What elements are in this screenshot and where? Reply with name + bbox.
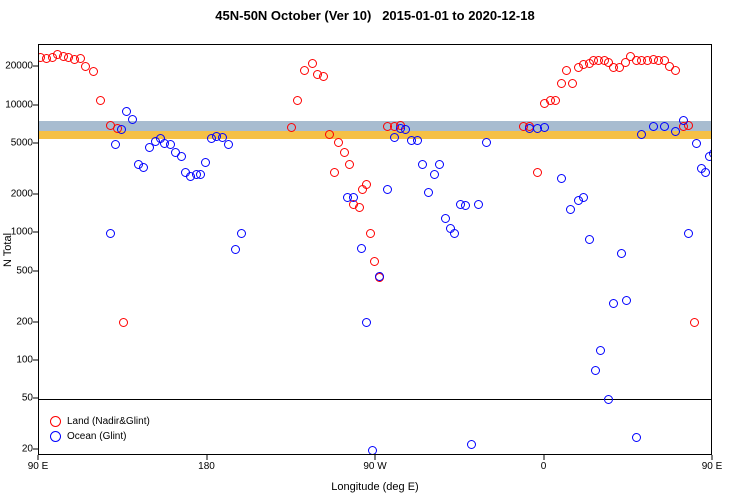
data-point: [106, 229, 115, 238]
y-tick-mark: [33, 66, 38, 67]
data-point: [649, 122, 658, 131]
y-tick-label: 5000: [11, 138, 33, 149]
plot-frame: [38, 44, 712, 455]
chart-root: 45N-50N October (Ver 10) 2015-01-01 to 2…: [0, 0, 750, 500]
data-point: [287, 123, 296, 132]
x-tick-mark: [712, 455, 713, 460]
data-point: [701, 168, 710, 177]
data-point: [366, 229, 375, 238]
y-tick-mark: [33, 359, 38, 360]
data-point: [362, 318, 371, 327]
data-point: [632, 433, 641, 442]
data-point: [551, 96, 560, 105]
data-point: [585, 235, 594, 244]
data-point: [308, 59, 317, 68]
data-point: [441, 214, 450, 223]
y-tick-mark: [33, 398, 38, 399]
data-point: [622, 296, 631, 305]
data-point: [482, 138, 491, 147]
y-tick-mark: [33, 270, 38, 271]
data-point: [566, 205, 575, 214]
chart-title: 45N-50N October (Ver 10) 2015-01-01 to 2…: [0, 8, 750, 23]
data-point: [139, 163, 148, 172]
data-point: [671, 127, 680, 136]
x-tick-label: 90 E: [702, 461, 723, 472]
data-point: [430, 170, 439, 179]
y-tick-label: 20000: [5, 61, 33, 72]
data-point: [119, 318, 128, 327]
data-point: [660, 122, 669, 131]
data-point: [177, 152, 186, 161]
data-point: [201, 158, 210, 167]
data-point: [368, 446, 377, 455]
data-point: [370, 257, 379, 266]
legend-item-ocean[interactable]: Ocean (Glint): [50, 429, 150, 444]
data-point: [340, 148, 349, 157]
y-tick-mark: [33, 232, 38, 233]
x-tick-mark: [375, 455, 376, 460]
data-point: [330, 168, 339, 177]
y-tick-mark: [33, 104, 38, 105]
x-tick-label: 90 W: [363, 461, 386, 472]
data-point: [467, 440, 476, 449]
legend-label-ocean: Ocean (Glint): [67, 430, 126, 444]
data-point: [196, 170, 205, 179]
x-tick-mark: [543, 455, 544, 460]
data-point: [474, 200, 483, 209]
data-point: [418, 160, 427, 169]
legend-marker-ocean-icon: [50, 431, 61, 442]
data-point: [579, 193, 588, 202]
data-point: [345, 160, 354, 169]
x-tick-label: 90 E: [28, 461, 49, 472]
data-point: [609, 299, 618, 308]
y-tick-label: 2000: [11, 189, 33, 200]
data-point: [300, 66, 309, 75]
data-point: [293, 96, 302, 105]
data-point: [679, 116, 688, 125]
data-point: [604, 395, 613, 404]
x-tick-mark: [38, 455, 39, 460]
y-tick-mark: [33, 449, 38, 450]
data-point: [684, 229, 693, 238]
data-point: [568, 79, 577, 88]
data-point: [690, 318, 699, 327]
x-tick-mark: [206, 455, 207, 460]
data-point: [231, 245, 240, 254]
data-point: [671, 66, 680, 75]
y-tick-label: 50: [22, 393, 33, 404]
data-point: [596, 346, 605, 355]
legend-marker-land-icon: [50, 416, 61, 427]
data-point: [435, 160, 444, 169]
legend-label-land: Land (Nadir&Glint): [67, 415, 150, 429]
data-point: [89, 67, 98, 76]
data-point: [383, 185, 392, 194]
data-point: [461, 201, 470, 210]
y-tick-label: 10000: [5, 99, 33, 110]
y-tick-label: 20: [22, 444, 33, 455]
data-point: [617, 249, 626, 258]
data-point: [325, 130, 334, 139]
data-point: [319, 72, 328, 81]
y-tick-mark: [33, 194, 38, 195]
data-point: [390, 133, 399, 142]
y-tick-label: 1000: [11, 227, 33, 238]
data-point: [237, 229, 246, 238]
data-point: [413, 136, 422, 145]
data-point: [357, 244, 366, 253]
x-tick-label: 0: [541, 461, 547, 472]
legend-item-land[interactable]: Land (Nadir&Glint): [50, 414, 150, 429]
data-point: [692, 139, 701, 148]
x-axis-label: Longitude (deg E): [38, 481, 712, 493]
y-tick-mark: [33, 143, 38, 144]
data-point: [424, 188, 433, 197]
data-point: [557, 174, 566, 183]
data-point: [562, 66, 571, 75]
data-point: [637, 130, 646, 139]
legend: Land (Nadir&Glint) Ocean (Glint): [46, 411, 156, 447]
y-tick-label: 500: [16, 265, 33, 276]
data-point: [557, 79, 566, 88]
x-tick-label: 180: [198, 461, 215, 472]
data-point: [111, 140, 120, 149]
blue-band: [39, 121, 711, 131]
data-point: [96, 96, 105, 105]
data-point: [591, 366, 600, 375]
y-tick-label: 100: [16, 354, 33, 365]
y-tick-label: 200: [16, 316, 33, 327]
data-point: [355, 203, 364, 212]
data-point: [533, 168, 542, 177]
data-point: [334, 138, 343, 147]
data-point: [450, 229, 459, 238]
data-point: [224, 140, 233, 149]
data-point: [362, 180, 371, 189]
plot-area: N Total Longitude (deg E) Land (Nadir&Gl…: [38, 44, 712, 455]
data-point: [540, 123, 549, 132]
y-tick-mark: [33, 321, 38, 322]
